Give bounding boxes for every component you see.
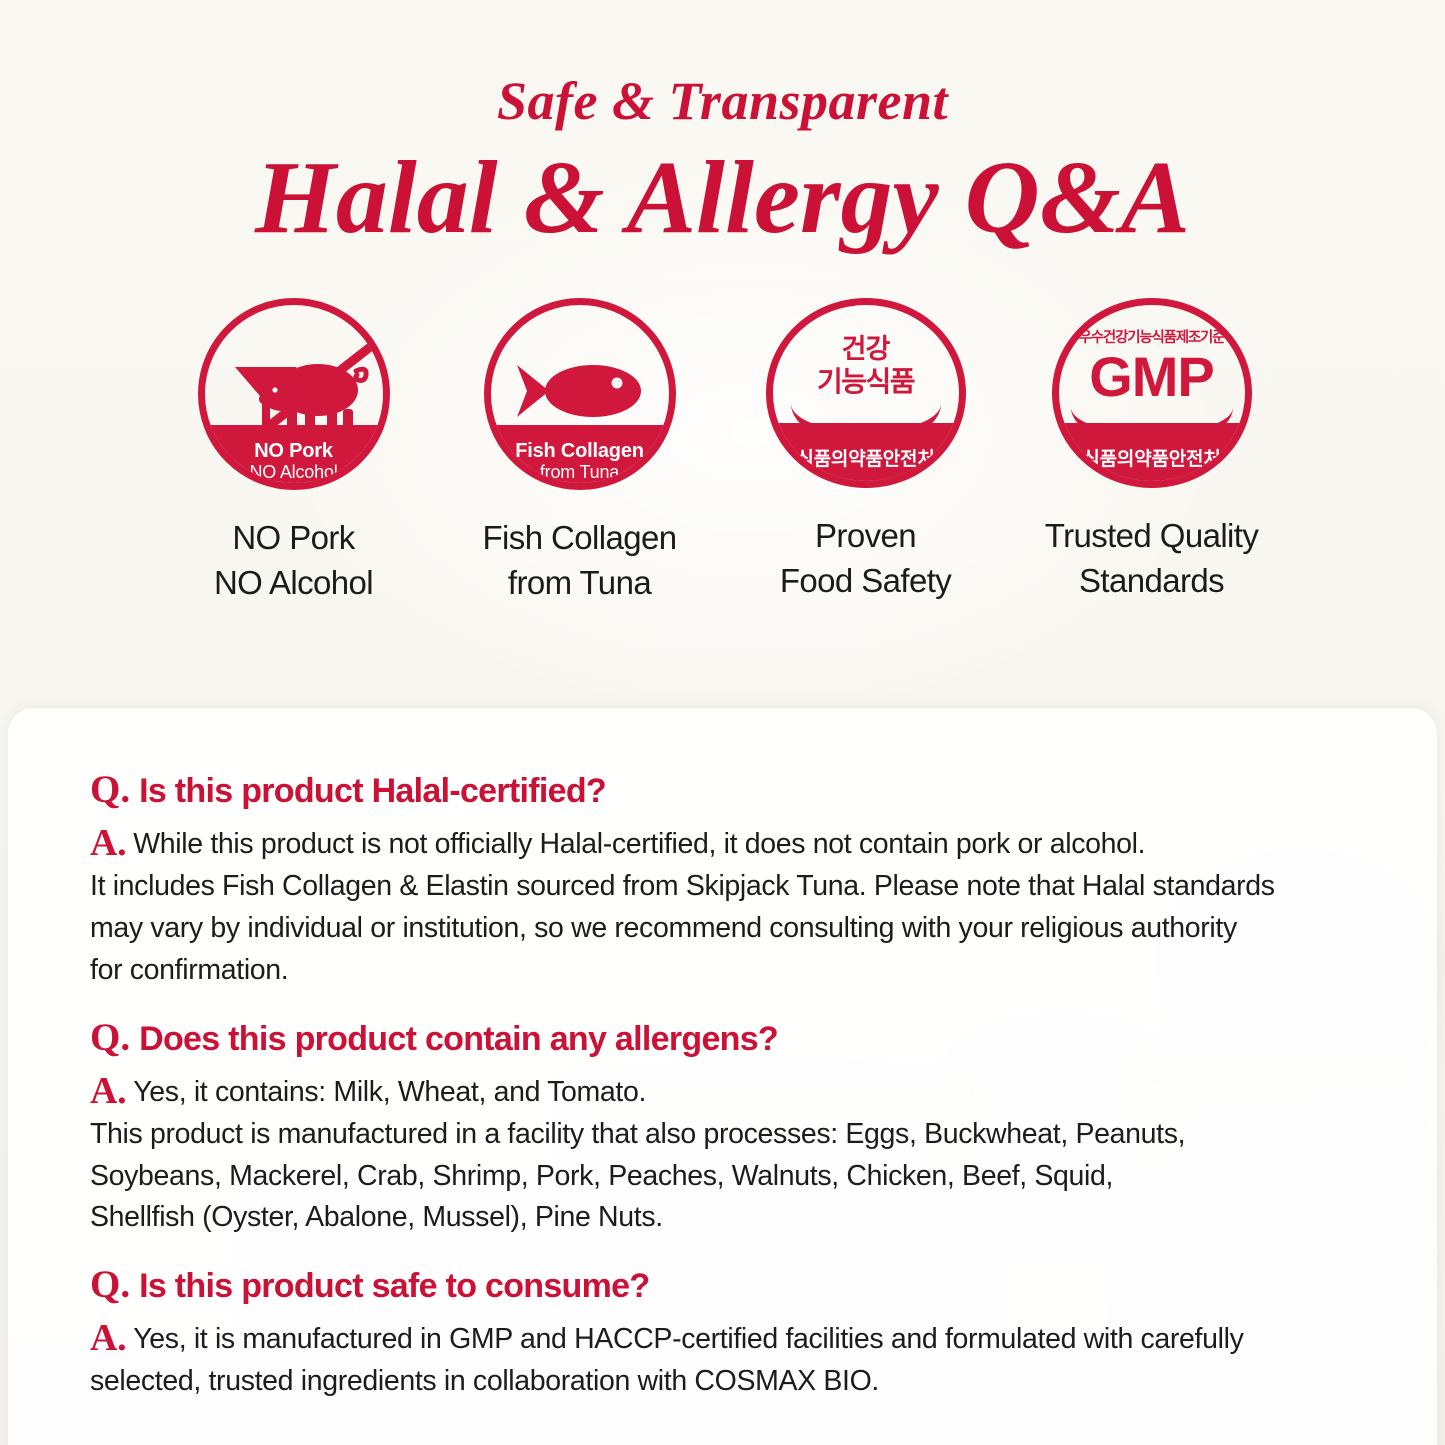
fish-collagen-icon: Fish Collagen from Tuna — [484, 298, 676, 490]
badge-trusted-quality-standards: 우수건강기능식품제조기준 GMP 식품의약품안전처 Trusted Qualit… — [1052, 298, 1252, 604]
badge-band: NO Pork NO Alcohol — [198, 425, 390, 490]
question-text: Does this product contain any allergens? — [139, 1020, 778, 1059]
badge-caption-line1: Trusted Quality — [1045, 514, 1259, 559]
seal-line1: 건강 — [773, 335, 959, 365]
answer-text: Yes, it contains: Milk, Wheat, and Tomat… — [90, 1076, 1185, 1234]
badge-band: 식품의약품안전처 — [766, 423, 966, 488]
question-marker: Q. — [90, 1265, 130, 1304]
hero-kicker: Safe & Transparent — [0, 74, 1445, 128]
badge-caption-line2: NO Alcohol — [214, 561, 373, 606]
badge-fish-collagen: Fish Collagen from Tuna Fish Collagen fr… — [480, 298, 680, 606]
gmp-seal-icon: 우수건강기능식품제조기준 GMP 식품의약품안전처 — [1052, 298, 1252, 488]
qa-item: Q. Is this product safe to consume? A.Ye… — [90, 1265, 1355, 1403]
hero-section: Safe & Transparent Halal & Allergy Q&A — [0, 0, 1445, 254]
seal-top-text: 우수건강기능식품제조기준 — [1059, 331, 1245, 346]
badge-caption-line1: Fish Collagen — [483, 516, 677, 561]
answer-marker: A. — [90, 1317, 126, 1359]
badge-band-line2: from Tuna — [540, 462, 619, 483]
qa-item: Q. Is this product Halal-certified? A.Wh… — [90, 770, 1355, 992]
question-marker: Q. — [90, 1018, 130, 1057]
badge-band: Fish Collagen from Tuna — [484, 425, 676, 490]
korea-health-functional-food-seal-icon: 건강 기능식품 식품의약품안전처 — [766, 298, 966, 488]
infographic-page: Safe & Transparent Halal & Allergy Q&A — [0, 0, 1445, 1445]
badge-caption: NO Pork NO Alcohol — [214, 516, 373, 606]
badge-band-line1: 식품의약품안전처 — [796, 449, 934, 470]
badge-proven-food-safety: 건강 기능식품 식품의약품안전처 Proven Food Safety — [766, 298, 966, 604]
answer-marker: A. — [90, 1070, 126, 1112]
certification-badge-row: NO Pork NO Alcohol NO Pork NO Alcohol — [0, 298, 1445, 606]
page-title: Halal & Allergy Q&A — [0, 142, 1445, 254]
badge-caption-line1: Proven — [780, 514, 951, 559]
qa-card: Q. Is this product Halal-certified? A.Wh… — [8, 708, 1437, 1445]
question-line: Q. Is this product safe to consume? — [90, 1265, 1355, 1306]
badge-caption-line2: from Tuna — [483, 561, 677, 606]
badge-caption: Trusted Quality Standards — [1045, 514, 1259, 604]
badge-caption-line2: Standards — [1045, 559, 1259, 604]
answer-line: A.While this product is not officially H… — [90, 824, 1355, 992]
badge-caption-line1: NO Pork — [214, 516, 373, 561]
answer-line: A.Yes, it contains: Milk, Wheat, and Tom… — [90, 1072, 1355, 1240]
fish-glyph — [505, 353, 655, 429]
question-text: Is this product safe to consume? — [139, 1267, 649, 1306]
badge-band-line1: NO Pork — [254, 440, 333, 462]
badge-band-line2: NO Alcohol — [249, 462, 337, 483]
no-pork-no-alcohol-icon: NO Pork NO Alcohol — [198, 298, 390, 490]
question-line: Q. Does this product contain any allerge… — [90, 1018, 1355, 1059]
question-marker: Q. — [90, 770, 130, 809]
badge-caption-line2: Food Safety — [780, 559, 951, 604]
seal-line2: 기능식품 — [773, 366, 959, 397]
badge-band-line1: Fish Collagen — [515, 440, 644, 462]
answer-text: While this product is not officially Hal… — [90, 828, 1275, 986]
badge-band-line1: 식품의약품안전처 — [1082, 449, 1220, 470]
qa-item: Q. Does this product contain any allerge… — [90, 1018, 1355, 1240]
answer-marker: A. — [90, 822, 126, 864]
answer-text: Yes, it is manufactured in GMP and HACCP… — [90, 1323, 1244, 1397]
question-text: Is this product Halal-certified? — [139, 772, 606, 811]
question-line: Q. Is this product Halal-certified? — [90, 770, 1355, 811]
badge-band: 식품의약품안전처 — [1052, 423, 1252, 488]
badge-no-pork-no-alcohol: NO Pork NO Alcohol NO Pork NO Alcohol — [194, 298, 394, 606]
badge-caption: Fish Collagen from Tuna — [483, 516, 677, 606]
badge-caption: Proven Food Safety — [780, 514, 951, 604]
seal-main-text: GMP — [1059, 348, 1245, 407]
answer-line: A.Yes, it is manufactured in GMP and HAC… — [90, 1319, 1355, 1403]
